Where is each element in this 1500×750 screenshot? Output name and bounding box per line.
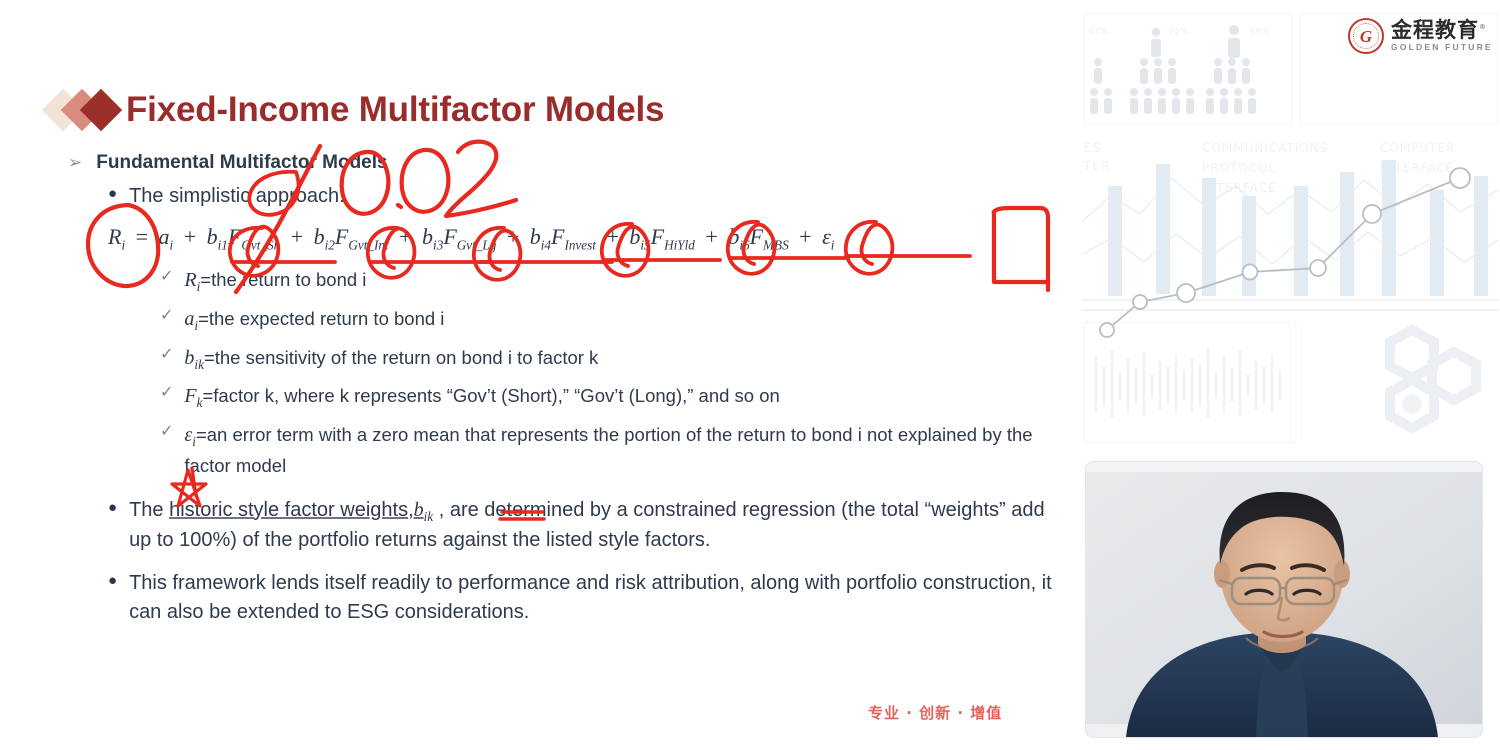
seal-icon: G [1348, 18, 1384, 54]
def-symbol: Ri [184, 269, 200, 291]
section-heading: Fundamental Multifactor Models [96, 152, 387, 174]
def-symbol: ai [184, 308, 198, 330]
multifactor-formula: Ri = ai + bi1FGvt_Sh + bi2FGvt_Int + bi3… [108, 224, 834, 253]
definition-row: ✓ bik=the sensitivity of the return on b… [160, 343, 1058, 375]
svg-text:47%: 47% [1088, 27, 1108, 37]
check-bullet-icon: ✓ [160, 381, 173, 405]
def-symbol: εi [184, 424, 196, 446]
formula-error-term: εi [822, 224, 834, 249]
def-text: =the return to bond i [200, 269, 366, 290]
bullet-pre-text: The [129, 499, 169, 521]
bullet-post-text: This framework lends itself readily to p… [129, 569, 1058, 627]
arrow-bullet-icon: ➢ [68, 152, 82, 174]
dot-bullet-icon: ● [108, 496, 117, 520]
bullet-underlined-text: historic style factor weights, [169, 499, 414, 521]
brand-logo: G 金程教育® GOLDEN FUTURE [1348, 18, 1493, 54]
svg-text:COMPUTER: COMPUTER [1380, 141, 1455, 155]
intro-bullet-text: The simplistic approach: [129, 182, 345, 211]
formula-term: bi6FMBS [728, 224, 788, 249]
svg-text:COMMUNICATIONS: COMMUNICATIONS [1202, 141, 1328, 155]
def-symbol: bik [184, 347, 204, 369]
def-text: =factor k, where k represents “Gov’t (Sh… [202, 385, 779, 406]
diamond-decoration-icon [48, 88, 126, 132]
body-bullet-row: ● The historic style factor weights,bik … [108, 496, 1058, 555]
body-bullet-row: ● This framework lends itself readily to… [108, 569, 1058, 627]
section-heading-row: ➢ Fundamental Multifactor Models [68, 152, 1058, 174]
formula-term: bi2FGvt_Int [314, 224, 389, 249]
check-bullet-icon: ✓ [160, 420, 173, 444]
formula-equals: = [131, 224, 153, 249]
check-bullet-icon: ✓ [160, 343, 173, 367]
formula-term: ai [159, 224, 174, 249]
logo-english-name: GOLDEN FUTURE [1391, 43, 1493, 52]
formula-term: bi3FGvt_Lg [422, 224, 496, 249]
definition-row: ✓ Fk=factor k, where k represents “Gov’t… [160, 381, 1058, 413]
formula-term: bi4FInvest [530, 224, 596, 249]
def-symbol: Fk [184, 385, 202, 407]
logo-chinese-name: 金程教育® [1391, 20, 1493, 41]
def-text: =the expected return to bond i [198, 308, 444, 329]
background-infographic: 47%73%86% ES TER COMMUNICATIONS PROTOCOL… [1082, 0, 1500, 460]
formula-term: bi1FGvt_Sh [207, 224, 281, 249]
footer-slogan: 专业 · 创新 · 增值 [868, 702, 1002, 723]
intro-bullet-row: ● The simplistic approach: [108, 182, 1058, 211]
formula-lhs: Ri [108, 224, 125, 249]
dot-bullet-icon: ● [108, 569, 117, 593]
definition-row: ✓ εi=an error term with a zero mean that… [160, 420, 1058, 480]
svg-text:86%: 86% [1250, 27, 1270, 37]
definition-row: ✓ Ri=the return to bond i [160, 265, 1058, 297]
def-text: =the sensitivity of the return on bond i… [204, 347, 598, 368]
dot-bullet-icon: ● [108, 182, 117, 206]
bullet-symbol: bik [414, 499, 434, 521]
title-row: Fixed-Income Multifactor Models [48, 88, 664, 132]
definition-row: ✓ ai=the expected return to bond i [160, 304, 1058, 336]
formula-term: bi5FHiYld [629, 224, 695, 249]
svg-text:73%: 73% [1168, 27, 1188, 37]
check-bullet-icon: ✓ [160, 304, 173, 328]
instructor-video-feed[interactable] [1086, 462, 1482, 737]
page-title: Fixed-Income Multifactor Models [126, 90, 664, 130]
check-bullet-icon: ✓ [160, 265, 173, 289]
svg-text:TER: TER [1083, 159, 1110, 173]
registered-mark: ® [1479, 23, 1487, 31]
def-text: =an error term with a zero mean that rep… [184, 424, 1032, 476]
seal-letter: G [1360, 28, 1372, 45]
webcam-frame [1086, 462, 1482, 737]
svg-text:PROTOCOL: PROTOCOL [1202, 161, 1276, 175]
svg-text:ES: ES [1084, 141, 1101, 155]
